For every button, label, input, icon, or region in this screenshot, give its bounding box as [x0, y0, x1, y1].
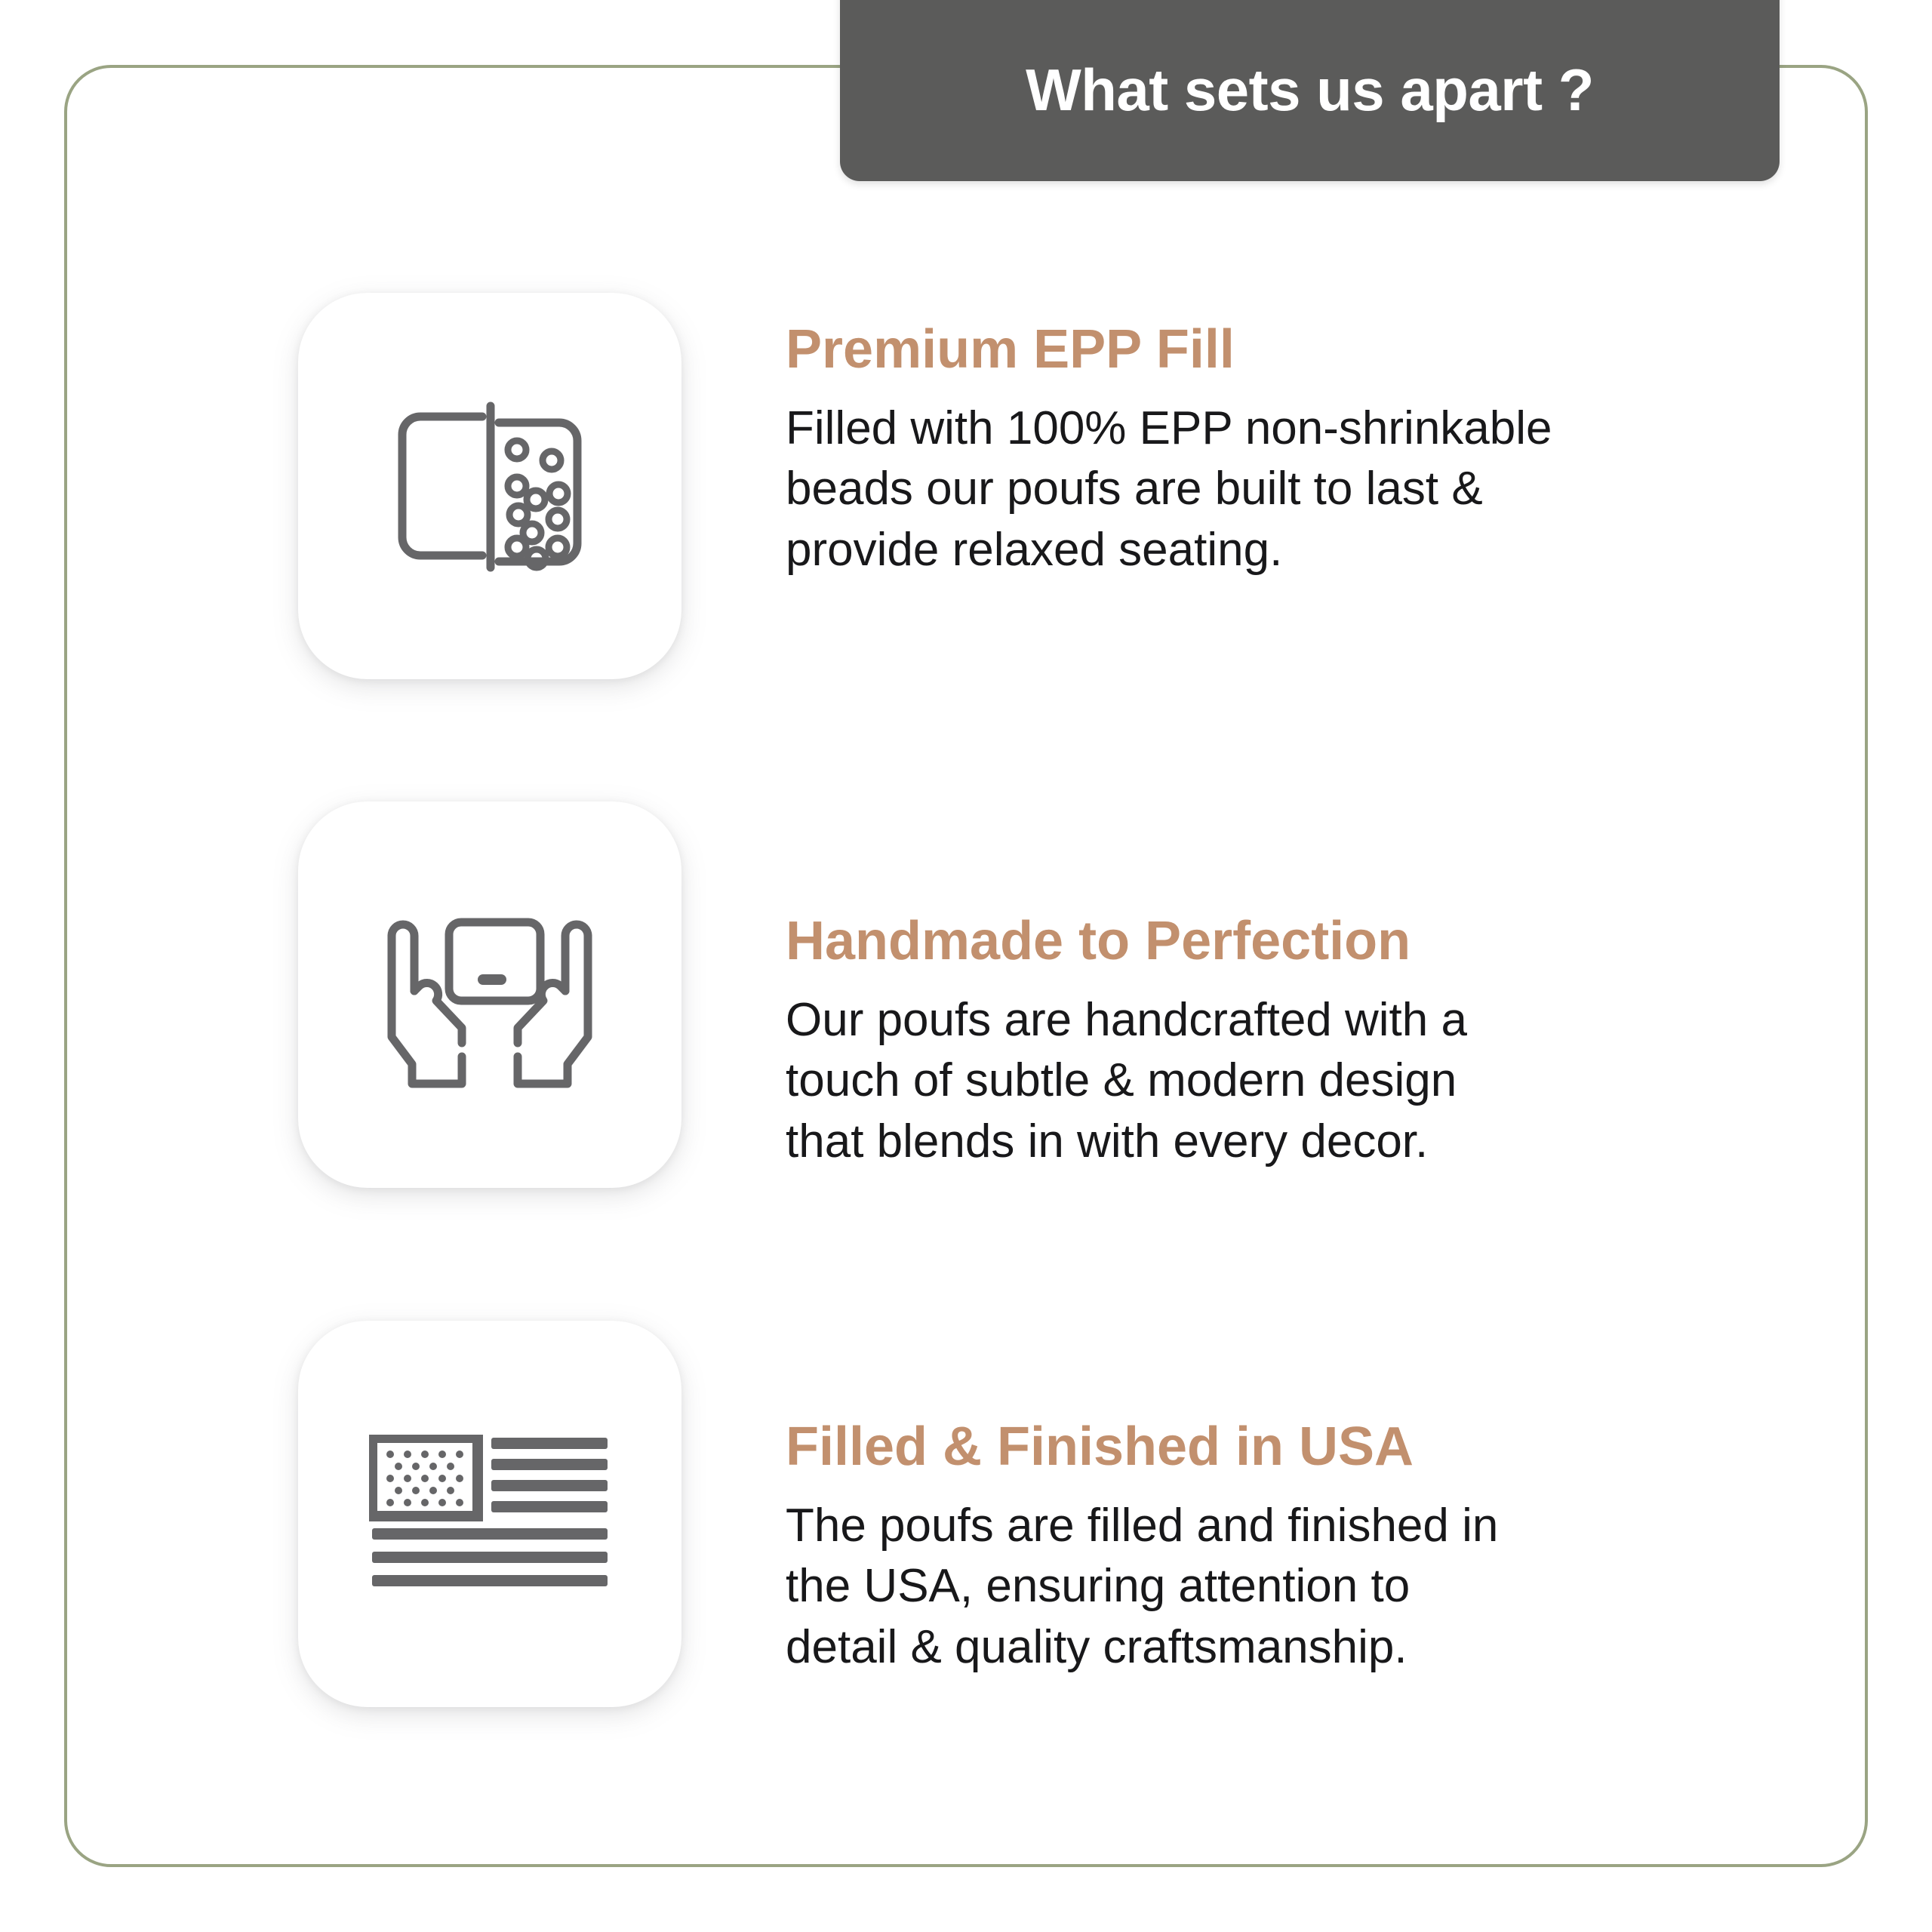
feature-title: Handmade to Perfection: [786, 913, 1792, 971]
feature-title: Premium EPP Fill: [786, 321, 1792, 379]
feature-text-block: Handmade to Perfection Our poufs are han…: [681, 801, 1792, 1172]
feature-row: Premium EPP Fill Filled with 100% EPP no…: [298, 293, 1792, 679]
feature-text-block: Premium EPP Fill Filled with 100% EPP no…: [681, 293, 1792, 580]
usa-flag-icon: [369, 1435, 611, 1593]
feature-icon-card: [298, 801, 681, 1188]
pouf-bead-fill-icon: [377, 388, 603, 584]
feature-body: Our poufs are handcrafted with a touch o…: [786, 990, 1752, 1173]
header-badge-title: What sets us apart ?: [1026, 60, 1594, 119]
feature-row: Filled & Finished in USA The poufs are f…: [298, 1321, 1792, 1707]
feature-icon-card: [298, 1321, 681, 1707]
feature-text-block: Filled & Finished in USA The poufs are f…: [681, 1321, 1792, 1678]
feature-title: Filled & Finished in USA: [786, 1419, 1792, 1476]
hands-holding-box-icon: [373, 889, 607, 1100]
infographic-canvas: What sets us apart ?: [0, 0, 1932, 1932]
feature-row: Handmade to Perfection Our poufs are han…: [298, 801, 1792, 1188]
feature-body: Filled with 100% EPP non-shrinkable bead…: [786, 398, 1752, 581]
header-badge: What sets us apart ?: [840, 0, 1780, 181]
feature-icon-card: [298, 293, 681, 679]
feature-body: The poufs are filled and finished in the…: [786, 1496, 1752, 1678]
